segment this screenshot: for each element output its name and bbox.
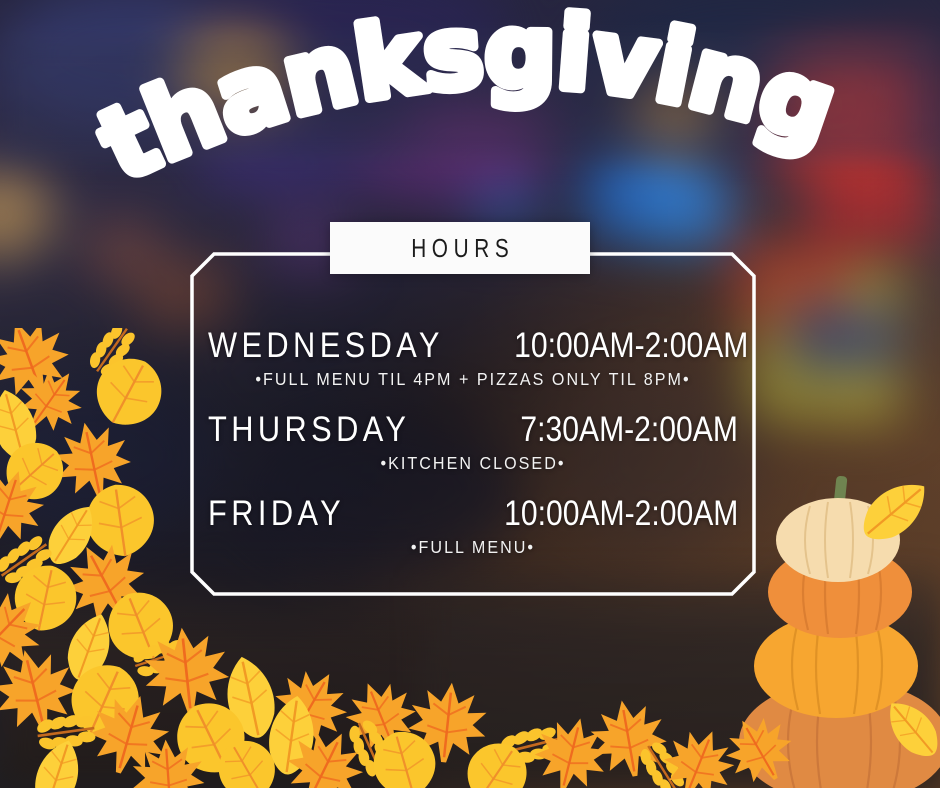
schedule-time: 10:00AM-2:00AM bbox=[504, 494, 738, 534]
schedule-day: WEDNESDAY bbox=[208, 326, 444, 366]
schedule-row-wednesday: WEDNESDAY 10:00AM-2:00AM •FULL MENU TIL … bbox=[208, 326, 738, 390]
schedule-row-main: WEDNESDAY 10:00AM-2:00AM bbox=[208, 326, 738, 366]
schedule-note: •FULL MENU• bbox=[229, 537, 717, 558]
schedule-day: THURSDAY bbox=[208, 410, 410, 450]
schedule-row-main: FRIDAY 10:00AM-2:00AM bbox=[208, 494, 738, 534]
schedule-list: WEDNESDAY 10:00AM-2:00AM •FULL MENU TIL … bbox=[190, 300, 756, 596]
poster-title-tspan: thanksgiving bbox=[82, 0, 849, 204]
hours-banner-label: HOURS bbox=[406, 233, 515, 264]
thanksgiving-hours-poster: thanksgiving HOURS WEDNESDAY 10:00AM-2:0… bbox=[0, 0, 940, 788]
poster-title-text: thanksgiving bbox=[82, 0, 849, 204]
pumpkin-top bbox=[776, 476, 900, 582]
schedule-time: 10:00AM-2:00AM bbox=[514, 326, 748, 366]
poster-title: thanksgiving bbox=[0, 6, 940, 216]
stacked-pumpkins bbox=[736, 464, 940, 788]
schedule-day: FRIDAY bbox=[208, 494, 345, 534]
schedule-row-main: THURSDAY 7:30AM-2:00AM bbox=[208, 410, 738, 450]
schedule-note: •FULL MENU TIL 4PM + PIZZAS ONLY TIL 8PM… bbox=[229, 369, 717, 390]
schedule-row-friday: FRIDAY 10:00AM-2:00AM •FULL MENU• bbox=[208, 494, 738, 558]
schedule-time: 7:30AM-2:00AM bbox=[521, 410, 738, 450]
hours-banner: HOURS bbox=[330, 222, 590, 274]
schedule-row-thursday: THURSDAY 7:30AM-2:00AM •KITCHEN CLOSED• bbox=[208, 410, 738, 474]
schedule-note: •KITCHEN CLOSED• bbox=[229, 453, 717, 474]
